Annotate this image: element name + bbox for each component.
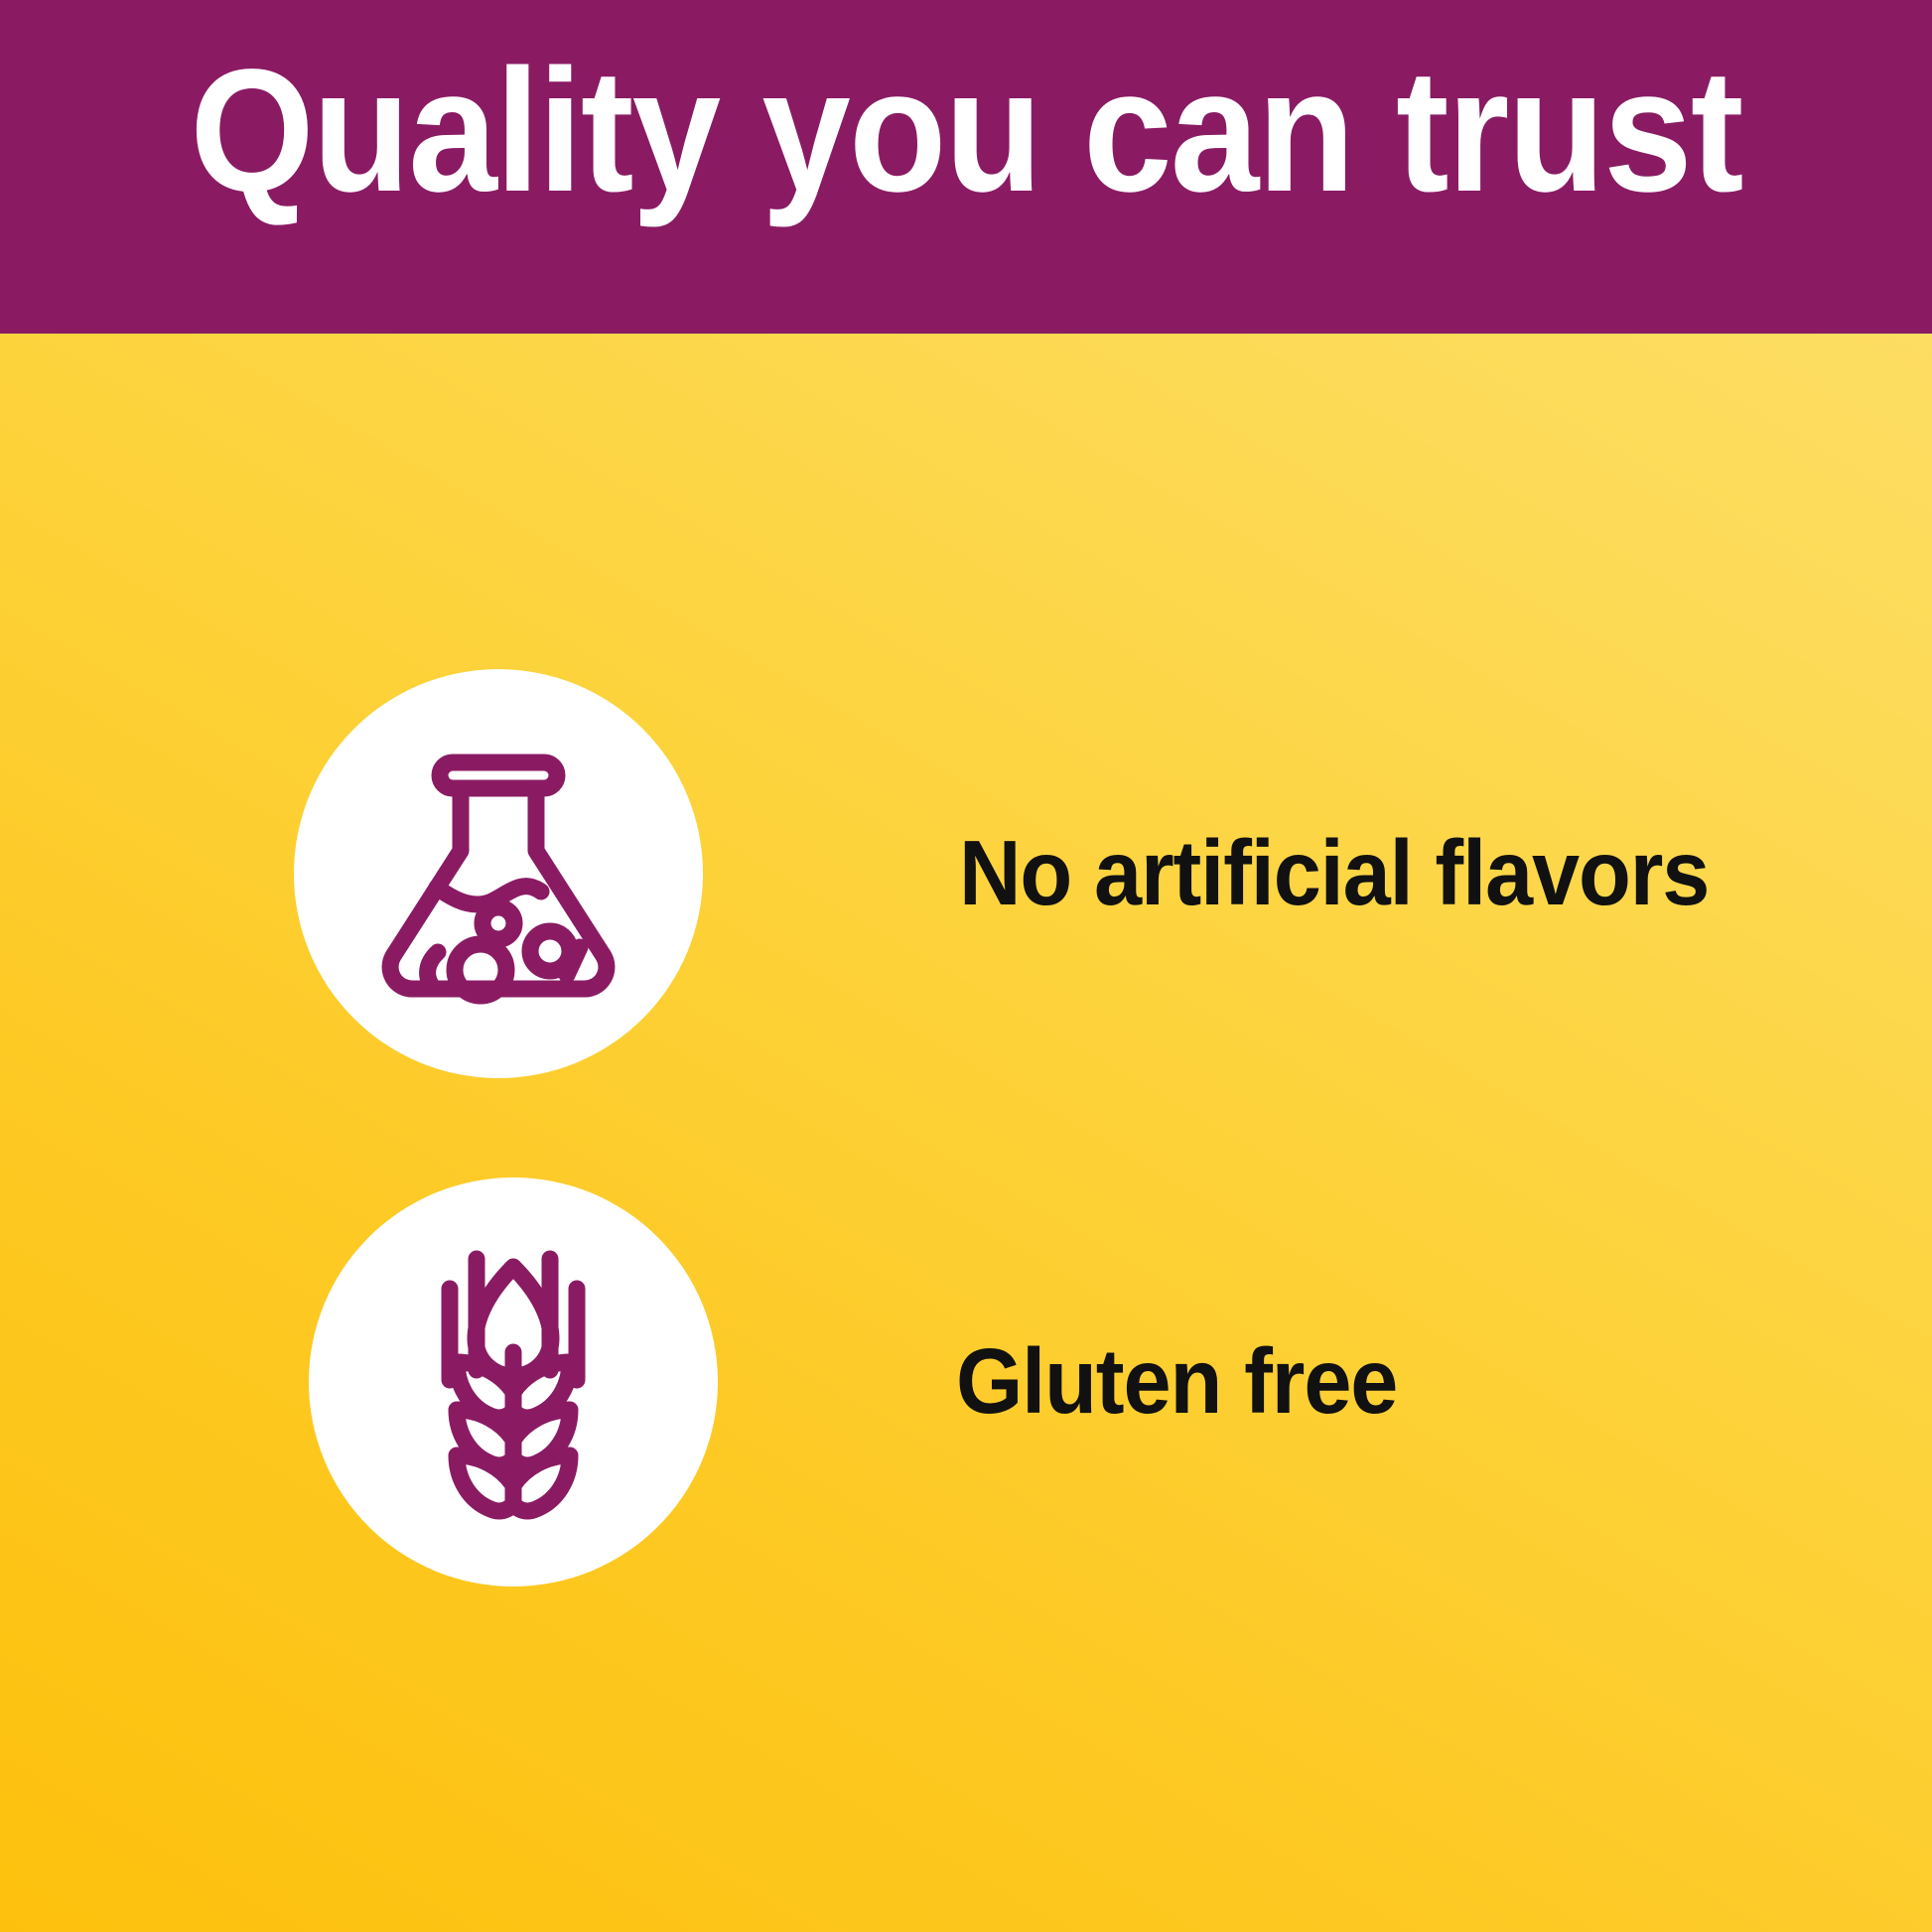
header-banner: Quality you can trust bbox=[0, 0, 1932, 334]
feature-label: No artificial flavors bbox=[959, 825, 1709, 922]
icon-badge bbox=[309, 1177, 718, 1587]
feature-item-no-artificial-flavors: No artificial flavors bbox=[294, 669, 1765, 1078]
promo-graphic: Quality you can trust bbox=[0, 0, 1932, 1932]
page-title: Quality you can trust bbox=[82, 44, 1851, 218]
feature-label: Gluten free bbox=[956, 1333, 1397, 1431]
wheat-icon bbox=[364, 1233, 662, 1531]
spacer bbox=[718, 1382, 956, 1383]
icon-badge bbox=[294, 669, 703, 1078]
spacer bbox=[703, 874, 959, 875]
feature-item-gluten-free: Gluten free bbox=[309, 1177, 1431, 1587]
flask-icon bbox=[349, 725, 647, 1023]
